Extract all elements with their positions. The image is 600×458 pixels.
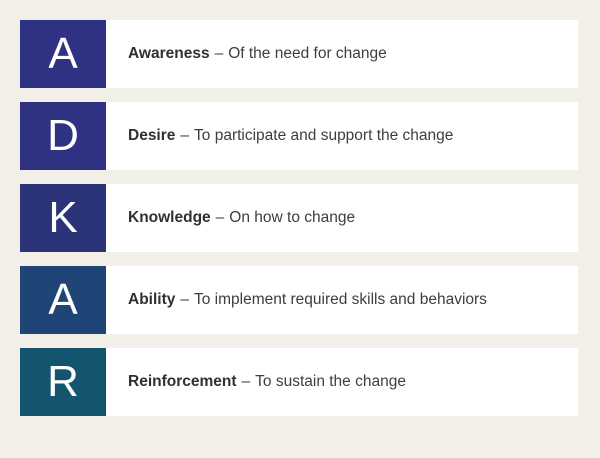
adkar-dash-awareness: – [215, 44, 224, 64]
adkar-row-knowledge: K Knowledge – On how to change [20, 184, 578, 252]
adkar-row-awareness: A Awareness – Of the need for change [20, 20, 578, 88]
adkar-description-knowledge: On how to change [229, 208, 355, 228]
adkar-row-text-knowledge: Knowledge – On how to change [106, 184, 578, 252]
adkar-dash-knowledge: – [216, 208, 225, 228]
adkar-row-ability: A Ability – To implement required skills… [20, 266, 578, 334]
adkar-description-reinforcement: To sustain the change [255, 372, 406, 392]
adkar-term-reinforcement: Reinforcement [128, 372, 237, 392]
adkar-dash-ability: – [180, 290, 189, 310]
adkar-diagram: A Awareness – Of the need for change D D… [0, 0, 600, 458]
adkar-row-text-desire: Desire – To participate and support the … [106, 102, 578, 170]
letter-tile-d-desire: D [20, 102, 106, 170]
adkar-term-desire: Desire [128, 126, 175, 146]
adkar-dash-desire: – [180, 126, 189, 146]
adkar-term-knowledge: Knowledge [128, 208, 211, 228]
adkar-term-ability: Ability [128, 290, 175, 310]
adkar-row-text-ability: Ability – To implement required skills a… [106, 266, 578, 334]
adkar-description-awareness: Of the need for change [228, 44, 387, 64]
letter-tile-k-knowledge: K [20, 184, 106, 252]
letter-tile-a-ability: A [20, 266, 106, 334]
letter-tile-a-awareness: A [20, 20, 106, 88]
adkar-term-awareness: Awareness [128, 44, 210, 64]
adkar-row-reinforcement: R Reinforcement – To sustain the change [20, 348, 578, 416]
adkar-row-text-reinforcement: Reinforcement – To sustain the change [106, 348, 578, 416]
letter-tile-r-reinforcement: R [20, 348, 106, 416]
adkar-description-ability: To implement required skills and behavio… [194, 290, 487, 310]
adkar-row-text-awareness: Awareness – Of the need for change [106, 20, 578, 88]
adkar-row-desire: D Desire – To participate and support th… [20, 102, 578, 170]
adkar-description-desire: To participate and support the change [194, 126, 453, 146]
adkar-dash-reinforcement: – [242, 372, 251, 392]
